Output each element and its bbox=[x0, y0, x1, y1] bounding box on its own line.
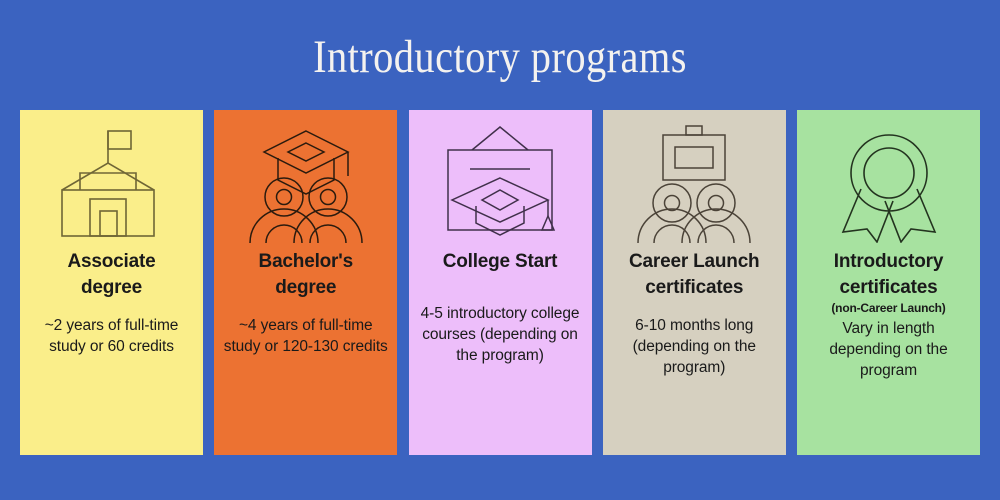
program-card-career-launch[interactable]: Career Launch certificates 6-10 months l… bbox=[603, 110, 786, 455]
program-card-associate-degree[interactable]: Associate degree ~2 years of full-time s… bbox=[20, 110, 203, 455]
infographic-canvas: Introductory programs Associate de bbox=[0, 0, 1000, 500]
program-card-introductory-certificates[interactable]: Introductory certificates (non-Career La… bbox=[797, 110, 980, 455]
card-body: ~2 years of full-time study or 60 credit… bbox=[29, 315, 194, 357]
card-heading: Career Launch certificates bbox=[612, 249, 777, 301]
award-ribbon-icon bbox=[797, 110, 980, 245]
card-body: 4-5 introductory college courses (depend… bbox=[418, 303, 583, 366]
card-body: Vary in length depending on the program bbox=[806, 318, 971, 381]
graduation-cap-people-icon bbox=[214, 110, 397, 245]
program-card-row: Associate degree ~2 years of full-time s… bbox=[20, 110, 980, 455]
diploma-board-cap-icon bbox=[409, 110, 592, 245]
card-heading: Associate degree bbox=[29, 249, 194, 301]
card-heading: College Start bbox=[418, 249, 583, 275]
card-subheading: (non-Career Launch) bbox=[801, 301, 976, 316]
page-title: Introductory programs bbox=[70, 29, 930, 85]
card-heading: Introductory certificates bbox=[806, 249, 971, 301]
program-card-bachelors-degree[interactable]: Bachelor's degree ~4 years of full-time … bbox=[214, 110, 397, 455]
briefcase-people-icon bbox=[603, 110, 786, 245]
program-card-college-start[interactable]: College Start 4-5 introductory college c… bbox=[409, 110, 592, 455]
card-body: ~4 years of full-time study or 120-130 c… bbox=[223, 315, 388, 357]
card-body: 6-10 months long (depending on the progr… bbox=[612, 315, 777, 378]
schoolhouse-icon bbox=[20, 110, 203, 245]
card-heading: Bachelor's degree bbox=[223, 249, 388, 301]
